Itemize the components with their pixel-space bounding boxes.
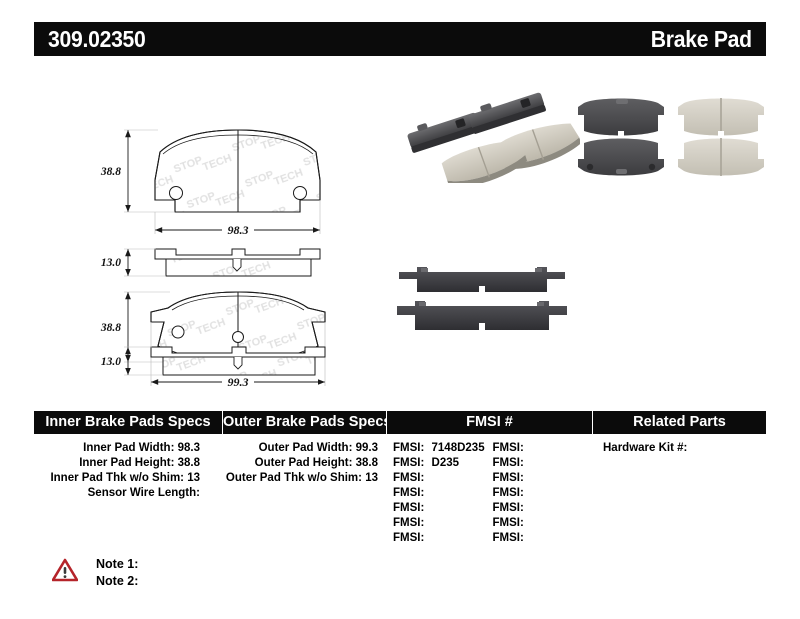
- fmsi-label: FMSI:: [493, 532, 524, 544]
- brake-pad-set-flat-photo: [578, 95, 768, 180]
- fmsi-label: FMSI:: [393, 457, 424, 469]
- spec-label: Sensor Wire Length:: [88, 487, 200, 499]
- fmsi-column: FMSI # FMSI: 7148D235 FMSI: D235 FMSI: F…: [387, 411, 592, 546]
- spec-value: 38.8: [178, 457, 200, 469]
- fmsi-label: FMSI:: [393, 442, 424, 454]
- fmsi-row: FMSI:: [393, 486, 493, 501]
- fmsi-label: FMSI:: [493, 502, 524, 514]
- fmsi-label: FMSI:: [493, 517, 524, 529]
- spec-value: 13: [187, 472, 200, 484]
- fmsi-row: FMSI:: [393, 471, 493, 486]
- inner-specs-header: Inner Brake Pads Specs: [34, 411, 222, 434]
- note-row: Note 2:: [96, 573, 138, 590]
- outer-pad-side-view: STOP TECH 13.0: [0, 332, 400, 390]
- fmsi-label: FMSI:: [493, 457, 524, 469]
- spec-value: 13: [365, 472, 378, 484]
- fmsi-row: FMSI:: [493, 441, 593, 456]
- fmsi-label: FMSI:: [393, 472, 424, 484]
- spec-row: Inner Pad Width: 98.3: [34, 441, 222, 456]
- fmsi-label: FMSI:: [493, 487, 524, 499]
- spec-label: Outer Pad Width:: [259, 442, 353, 454]
- spec-value: 38.8: [356, 457, 378, 469]
- brake-pad-edge-profile-photo: [395, 258, 570, 338]
- spec-label: Inner Pad Width:: [83, 442, 174, 454]
- inner-specs-body: Inner Pad Width: 98.3 Inner Pad Height: …: [34, 434, 222, 501]
- related-parts-header: Related Parts: [593, 411, 766, 434]
- fmsi-label: FMSI:: [393, 502, 424, 514]
- fmsi-value: 7148D235: [432, 442, 485, 454]
- spec-row: Outer Pad Thk w/o Shim: 13: [223, 471, 386, 486]
- fmsi-label: FMSI:: [393, 532, 424, 544]
- specification-tables: Inner Brake Pads Specs Inner Pad Width: …: [34, 411, 766, 546]
- fmsi-row: FMSI:: [393, 501, 493, 516]
- inner-height-label: 38.8: [100, 166, 121, 178]
- notes-list: Note 1: Note 2:: [96, 556, 138, 590]
- brake-pad-set-angled-photo: [400, 88, 580, 183]
- inner-thickness-label: 13.0: [101, 257, 121, 269]
- fmsi-row: FMSI:: [493, 501, 593, 516]
- fmsi-row: FMSI:: [493, 516, 593, 531]
- outer-thickness-label: 13.0: [101, 356, 121, 368]
- related-parts-row: Hardware Kit #:: [593, 434, 766, 456]
- fmsi-row: FMSI: D235: [393, 456, 493, 471]
- notes-section: Note 1: Note 2:: [52, 556, 138, 590]
- note-row: Note 1:: [96, 556, 138, 573]
- fmsi-row: FMSI:: [493, 531, 593, 546]
- inner-pad-side-view: [155, 249, 320, 276]
- part-number: 309.02350: [48, 26, 146, 53]
- fmsi-row: FMSI:: [493, 456, 593, 471]
- fmsi-label: FMSI:: [393, 487, 424, 499]
- product-type: Brake Pad: [651, 26, 752, 53]
- fmsi-row: FMSI:: [493, 471, 593, 486]
- spec-row: Inner Pad Height: 38.8: [34, 456, 222, 471]
- spec-value: 98.3: [178, 442, 200, 454]
- outer-specs-body: Outer Pad Width: 99.3 Outer Pad Height: …: [223, 434, 386, 486]
- inner-pad-front-view: [155, 130, 320, 212]
- inner-width-label: 98.3: [228, 223, 249, 237]
- warning-triangle-icon: [52, 558, 78, 582]
- fmsi-row: FMSI:: [393, 531, 493, 546]
- inner-specs-column: Inner Brake Pads Specs Inner Pad Width: …: [34, 411, 222, 546]
- fmsi-label: FMSI:: [493, 472, 524, 484]
- spec-row: Sensor Wire Length:: [34, 486, 222, 501]
- fmsi-value: D235: [432, 457, 460, 469]
- fmsi-row: FMSI:: [493, 486, 593, 501]
- fmsi-row: FMSI:: [393, 516, 493, 531]
- spec-row: Outer Pad Width: 99.3: [223, 441, 386, 456]
- outer-specs-header: Outer Brake Pads Specs: [223, 411, 386, 434]
- spec-label: Inner Pad Height:: [79, 457, 174, 469]
- fmsi-body: FMSI: 7148D235 FMSI: D235 FMSI: FMSI: FM…: [387, 434, 592, 546]
- fmsi-right-subcolumn: FMSI: FMSI: FMSI: FMSI: FMSI:: [493, 441, 593, 546]
- spec-label: Inner Pad Thk w/o Shim:: [50, 472, 184, 484]
- spec-value: 99.3: [356, 442, 378, 454]
- spec-label: Outer Pad Height:: [255, 457, 353, 469]
- spec-row: Inner Pad Thk w/o Shim: 13: [34, 471, 222, 486]
- spec-label: Outer Pad Thk w/o Shim:: [226, 472, 362, 484]
- outer-specs-column: Outer Brake Pads Specs Outer Pad Width: …: [223, 411, 386, 546]
- fmsi-label: FMSI:: [393, 517, 424, 529]
- spec-row: Outer Pad Height: 38.8: [223, 456, 386, 471]
- title-bar: 309.02350 Brake Pad: [34, 22, 766, 56]
- related-parts-label: Hardware Kit #:: [603, 442, 687, 454]
- fmsi-label: FMSI:: [493, 442, 524, 454]
- fmsi-left-subcolumn: FMSI: 7148D235 FMSI: D235 FMSI: FMSI: FM…: [393, 441, 493, 546]
- related-parts-column: Related Parts Hardware Kit #:: [593, 411, 766, 546]
- fmsi-header: FMSI #: [387, 411, 592, 434]
- fmsi-row: FMSI: 7148D235: [393, 441, 493, 456]
